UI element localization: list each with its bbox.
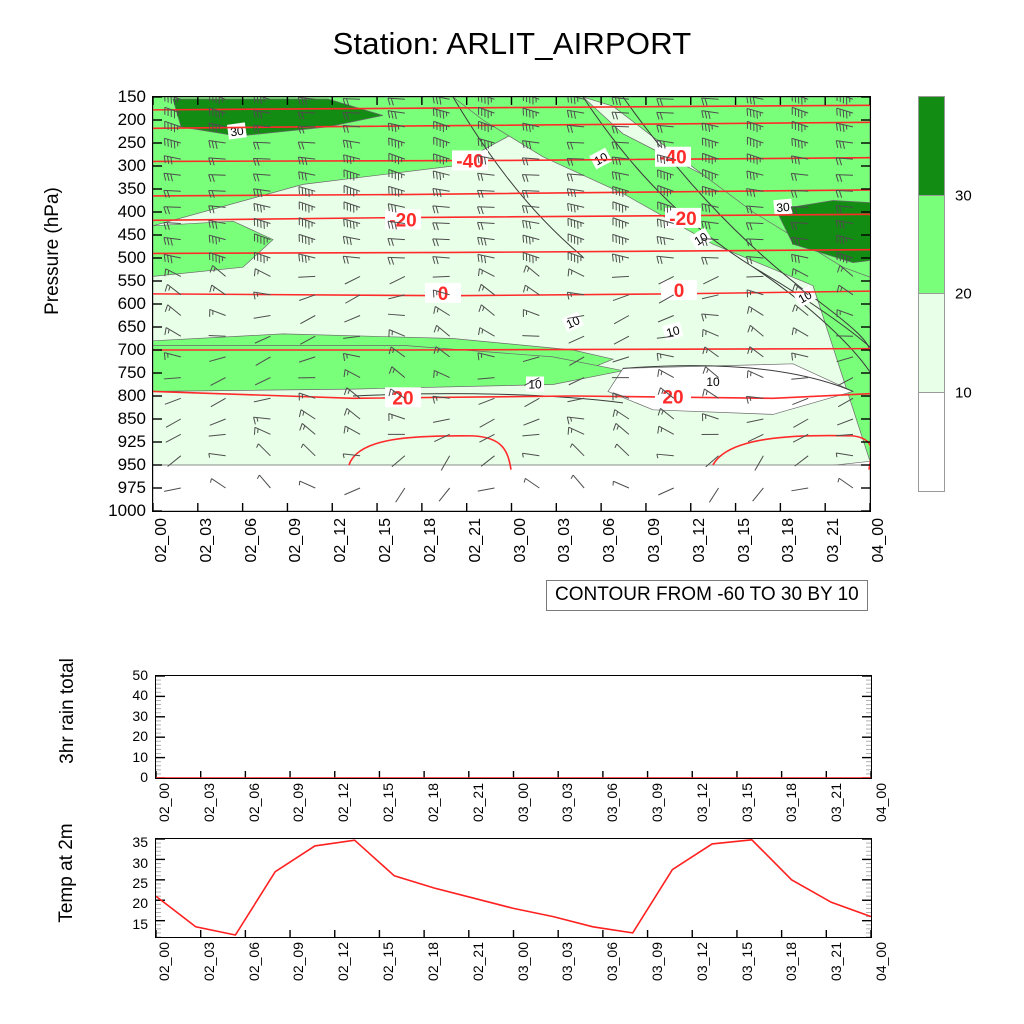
rain-x-tick-label: 03_03 [559, 783, 575, 822]
main-x-tick-label: 03_18 [780, 518, 798, 563]
main-y-tick-label: 800 [118, 386, 146, 406]
temp-chart[interactable] [155, 838, 872, 938]
colorbar-band[interactable] [919, 196, 944, 295]
rain-x-tick-label: 02_18 [425, 783, 441, 822]
svg-text:20: 20 [392, 388, 413, 409]
windspeed-contour-label: 10 [704, 374, 722, 389]
main-y-tick-label: 300 [118, 156, 146, 176]
temp-x-tick-label: 03_09 [649, 942, 665, 981]
main-y-tick-label: 975 [118, 478, 146, 498]
rain-y-tick-label: 40 [132, 687, 148, 703]
main-x-tick-label: 02_00 [153, 518, 171, 563]
temp-x-tick-label: 02_00 [156, 942, 172, 981]
temp-x-tick-label: 03_00 [515, 942, 531, 981]
colorbar-band[interactable] [919, 97, 944, 196]
temp-x-tick-label: 03_06 [604, 942, 620, 981]
temp-y-tick-label: 15 [132, 916, 148, 932]
temp-x-tick-label: 02_18 [425, 942, 441, 981]
temp-x-tick-label: 02_03 [201, 942, 217, 981]
rain-x-tick-label: 03_21 [828, 783, 844, 822]
main-y-tick-label: 250 [118, 133, 146, 153]
main-x-tick-label: 02_09 [287, 518, 305, 563]
main-x-tick-label: 03_21 [825, 518, 843, 563]
temp-x-tick-label: 02_06 [246, 942, 262, 981]
rain-x-tick-label: 03_00 [515, 783, 531, 822]
rain-y-axis: 50403020100 [100, 675, 148, 777]
svg-text:-40: -40 [659, 148, 686, 169]
temperature-contour-label: -20 [385, 209, 421, 231]
rain-chart[interactable] [155, 675, 872, 779]
main-x-axis: 02_0002_0302_0602_0902_1202_1502_1802_21… [152, 518, 871, 588]
rain-y-tick-label: 20 [132, 728, 148, 744]
temperature-contour-label: -20 [665, 208, 701, 230]
temperature-contour-label: -40 [452, 150, 488, 172]
main-y-tick-label: 850 [118, 409, 146, 429]
rain-panel-title: 3hr rain total [57, 621, 79, 801]
panel-ticks [156, 839, 871, 937]
main-y-tick-label: 400 [118, 202, 146, 222]
svg-text:-20: -20 [389, 210, 416, 231]
main-x-tick-label: 02_06 [243, 518, 261, 563]
temp-y-tick-label: 30 [132, 855, 148, 871]
rain-x-tick-label: 02_15 [380, 783, 396, 822]
main-x-tick-label: 02_21 [467, 518, 485, 563]
main-x-tick-label: 03_09 [646, 518, 664, 563]
contour-caption: CONTOUR FROM -60 TO 30 BY 10 [546, 580, 868, 611]
main-y-tick-label: 450 [118, 225, 146, 245]
main-y-tick-label: 750 [118, 363, 146, 383]
temp-x-tick-label: 02_15 [380, 942, 396, 981]
temp-panel-title: Temp at 2m [56, 788, 78, 958]
temp-x-tick-label: 03_12 [694, 942, 710, 981]
temp-series-line [156, 840, 871, 935]
temp-x-tick-label: 03_21 [828, 942, 844, 981]
rain-x-tick-label: 02_12 [335, 783, 351, 822]
colorbar-band[interactable] [919, 294, 944, 393]
rain-x-tick-label: 03_09 [649, 783, 665, 822]
temp-x-axis: 02_0002_0302_0602_0902_1202_1502_1802_21… [155, 942, 872, 1002]
rain-x-tick-label: 02_09 [290, 783, 306, 822]
main-y-tick-label: 200 [118, 110, 146, 130]
page-title: Station: ARLIT_AIRPORT [0, 26, 1024, 62]
colorbar-band[interactable] [919, 393, 944, 492]
main-x-tick-label: 03_00 [512, 518, 530, 563]
windspeed-contour-label: 30 [773, 199, 792, 216]
rain-y-tick-label: 10 [132, 749, 148, 765]
main-y-tick-label: 950 [118, 455, 146, 475]
main-x-tick-label: 03_03 [556, 518, 574, 563]
temp-plot-area [156, 839, 871, 937]
main-y-tick-label: 650 [118, 317, 146, 337]
rain-y-tick-label: 30 [132, 708, 148, 724]
main-y-tick-label: 600 [118, 294, 146, 314]
main-y-tick-label: 925 [118, 432, 146, 452]
windspeed-contour-label: 10 [526, 377, 544, 392]
rain-plot-area [156, 676, 871, 778]
rain-y-tick-label: 0 [140, 769, 148, 785]
main-y-axis: 1502002503003504004505005506006507007508… [60, 96, 146, 512]
main-y-tick-label: 150 [118, 87, 146, 107]
rain-x-tick-label: 03_12 [694, 783, 710, 822]
rain-x-tick-label: 02_06 [246, 783, 262, 822]
temp-x-tick-label: 03_15 [739, 942, 755, 981]
main-x-tick-label: 02_15 [377, 518, 395, 563]
wind-barb [522, 336, 539, 337]
panel-ticks [156, 676, 871, 778]
svg-text:30: 30 [776, 200, 791, 215]
colorbar-tick-label: 10 [955, 384, 972, 401]
colorbar-tick-label: 20 [955, 286, 972, 303]
wind-barb [209, 335, 226, 336]
temp-y-tick-label: 25 [132, 875, 148, 891]
temperature-contour-label: 0 [425, 283, 461, 305]
rain-x-axis: 02_0002_0302_0602_0902_1202_1502_1802_21… [155, 783, 872, 843]
rain-x-tick-label: 04_00 [873, 783, 889, 822]
temp-x-tick-label: 04_00 [873, 942, 889, 981]
main-y-axis-title: Pressure (hPa) [42, 136, 64, 366]
sounding-time-height-chart[interactable]: 10101010101010303030-40-40-20-20002020 [152, 96, 871, 512]
rain-x-tick-label: 02_00 [156, 783, 172, 822]
svg-text:-40: -40 [456, 151, 483, 172]
main-x-tick-label: 03_06 [601, 518, 619, 563]
temp-y-tick-label: 35 [132, 834, 148, 850]
main-x-tick-label: 02_18 [422, 518, 440, 563]
main-y-tick-label: 500 [118, 248, 146, 268]
temp-y-tick-label: 20 [132, 895, 148, 911]
colorbar[interactable]: 302010 [918, 96, 945, 492]
rain-y-tick-label: 50 [132, 667, 148, 683]
sounding-plot-area: 10101010101010303030-40-40-20-20002020 [153, 97, 870, 511]
rain-x-tick-label: 03_06 [604, 783, 620, 822]
main-x-tick-label: 03_15 [736, 518, 754, 563]
main-y-tick-label: 550 [118, 271, 146, 291]
main-x-tick-label: 02_12 [332, 518, 350, 563]
main-y-tick-label: 700 [118, 340, 146, 360]
temp-y-axis: 1520253035 [100, 838, 148, 936]
windspeed-contour-label: 30 [227, 122, 247, 139]
svg-text:30: 30 [229, 124, 244, 140]
rain-x-tick-label: 03_18 [783, 783, 799, 822]
main-x-tick-label: 02_03 [198, 518, 216, 563]
rain-x-tick-label: 02_21 [470, 783, 486, 822]
temp-x-tick-label: 02_12 [335, 942, 351, 981]
colorbar-tick-label: 30 [955, 187, 972, 204]
temp-x-tick-label: 03_03 [559, 942, 575, 981]
temp-x-tick-label: 03_18 [783, 942, 799, 981]
rain-x-tick-label: 02_03 [201, 783, 217, 822]
temp-x-tick-label: 02_21 [470, 942, 486, 981]
svg-text:-20: -20 [669, 209, 696, 230]
wind-barb [746, 276, 763, 277]
main-y-tick-label: 350 [118, 179, 146, 199]
main-x-tick-label: 03_12 [691, 518, 709, 563]
temp-x-tick-label: 02_09 [290, 942, 306, 981]
svg-text:0: 0 [674, 281, 685, 302]
main-y-tick-label: 1000 [108, 501, 146, 521]
rain-x-tick-label: 03_15 [739, 783, 755, 822]
main-x-tick-label: 04_00 [870, 518, 888, 563]
